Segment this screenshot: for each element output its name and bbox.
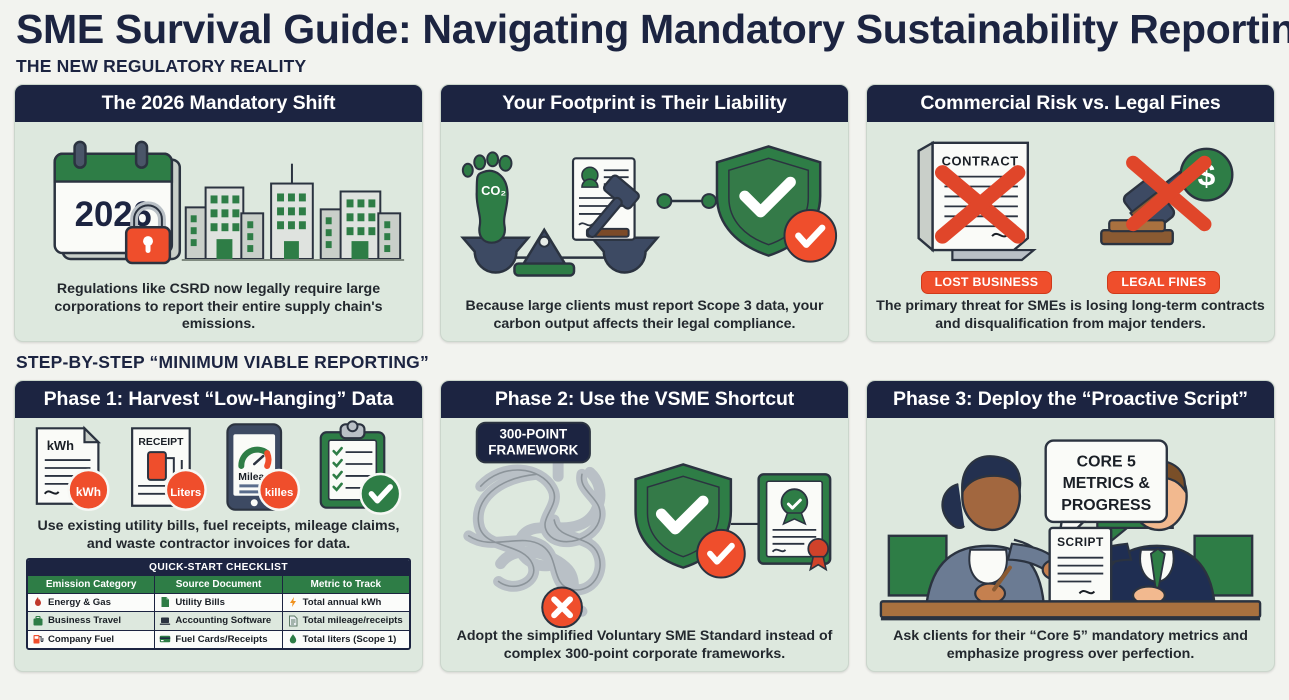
bolt-icon	[287, 596, 299, 608]
card-caption: Adopt the simplified Voluntary SME Stand…	[441, 628, 848, 671]
column-header-source-document: Source Document	[155, 576, 282, 593]
checklist-title: QUICK-START CHECKLIST	[28, 560, 409, 576]
card-row-top: The 2026 Mandatory Shift 2026	[14, 84, 1275, 342]
card-commercial-risk[interactable]: Commercial Risk vs. Legal Fines CONTRACT	[866, 84, 1275, 342]
card-caption: Use existing utility bills, fuel receipt…	[15, 518, 422, 558]
contract-label: CONTRACT	[942, 154, 1019, 169]
tangle-tag-line1: 300-POINT	[499, 427, 568, 442]
scales-footprint-shield-illustration: CO₂	[441, 122, 848, 298]
card-phase-2[interactable]: Phase 2: Use the VSME Shortcut	[440, 380, 849, 672]
co2-label: CO₂	[481, 184, 506, 199]
page-icon	[287, 615, 299, 627]
infographic-page: SME Survival Guide: Navigating Mandatory…	[0, 0, 1289, 700]
card-title: Phase 1: Harvest “Low-Hanging” Data	[15, 381, 422, 418]
card-caption: Ask clients for their “Core 5” mandatory…	[867, 628, 1274, 671]
pill-legal-fines: LEGAL FINES	[1107, 271, 1220, 294]
bubble-line1: CORE 5	[1077, 454, 1136, 471]
card-phase-1[interactable]: Phase 1: Harvest “Low-Hanging” Data kWh	[14, 380, 423, 672]
cell-source-document: Accounting Software	[155, 612, 282, 630]
badge-kwh: kWh	[76, 485, 101, 499]
card-title: Commercial Risk vs. Legal Fines	[867, 85, 1274, 122]
cell-emission-category: Business Travel	[28, 612, 155, 630]
bubble-line3: PROGRESS	[1061, 498, 1151, 515]
cell-source-document: Utility Bills	[155, 594, 282, 612]
checklist-header-row: Emission Category Source Document Metric…	[28, 576, 409, 593]
card-caption: Regulations like CSRD now legally requir…	[15, 281, 422, 341]
card-2026-mandatory-shift[interactable]: The 2026 Mandatory Shift 2026	[14, 84, 423, 342]
fuel-pump-icon	[32, 633, 44, 645]
cell-metric-to-track: Total liters (Scope 1)	[283, 631, 409, 649]
cell-metric-to-track: Total annual kWh	[283, 594, 409, 612]
table-row: Energy & Gas Utility Bills Total annual …	[28, 593, 409, 612]
document-icon	[159, 596, 171, 608]
section-heading-2: STEP-BY-STEP “MINIMUM VIABLE REPORTING”	[14, 342, 1275, 380]
bubble-line2: METRICS &	[1063, 476, 1150, 493]
page-title: SME Survival Guide: Navigating Mandatory…	[14, 0, 1275, 54]
briefcase-icon	[32, 615, 44, 627]
script-label: SCRIPT	[1057, 535, 1104, 549]
column-header-emission-category: Emission Category	[28, 576, 155, 593]
cell-emission-category: Company Fuel	[28, 631, 155, 649]
card-title: Phase 2: Use the VSME Shortcut	[441, 381, 848, 418]
doc-label-kwh: kWh	[47, 439, 74, 454]
card-title: The 2026 Mandatory Shift	[15, 85, 422, 122]
tangle-shield-certificate-illustration: 300-POINT FRAMEWORK	[441, 418, 848, 628]
badge-liters: Liters	[170, 487, 201, 499]
meeting-script-illustration: CORE 5 METRICS & PROGRESS SCRIPT	[867, 418, 1274, 628]
card-footprint-liability[interactable]: Your Footprint is Their Liability	[440, 84, 849, 342]
risk-pill-row: LOST BUSINESS LEGAL FINES	[867, 271, 1274, 298]
droplet-icon	[287, 633, 299, 645]
card-caption: Because large clients must report Scope …	[441, 298, 848, 341]
section-heading-1: THE NEW REGULATORY REALITY	[14, 54, 1275, 84]
card-caption: The primary threat for SMEs is losing lo…	[867, 298, 1274, 341]
pill-lost-business: LOST BUSINESS	[921, 271, 1053, 294]
flame-icon	[32, 596, 44, 608]
card-title: Phase 3: Deploy the “Proactive Script”	[867, 381, 1274, 418]
table-row: Business Travel Accounting Software Tota…	[28, 611, 409, 630]
cell-source-document: Fuel Cards/Receipts	[155, 631, 282, 649]
laptop-icon	[159, 615, 171, 627]
table-row: Company Fuel Fuel Cards/Receipts Total l…	[28, 630, 409, 649]
doc-label-receipt: RECEIPT	[138, 438, 184, 449]
cell-metric-to-track: Total mileage/receipts	[283, 612, 409, 630]
contract-gavel-risk-illustration: CONTRACT	[867, 122, 1274, 271]
card-title: Your Footprint is Their Liability	[441, 85, 848, 122]
card-phase-3[interactable]: Phase 3: Deploy the “Proactive Script”	[866, 380, 1275, 672]
tangle-tag-line2: FRAMEWORK	[488, 443, 578, 458]
documents-row-illustration: kWh kWh RECEIPT	[15, 418, 422, 518]
credit-card-icon	[159, 633, 171, 645]
cell-emission-category: Energy & Gas	[28, 594, 155, 612]
quick-start-checklist-table[interactable]: QUICK-START CHECKLIST Emission Category …	[26, 558, 411, 650]
column-header-metric-to-track: Metric to Track	[283, 576, 409, 593]
calendar-lock-buildings-illustration: 2026	[15, 122, 422, 281]
badge-killes: killes	[265, 487, 294, 499]
card-row-bottom: Phase 1: Harvest “Low-Hanging” Data kWh	[14, 380, 1275, 672]
